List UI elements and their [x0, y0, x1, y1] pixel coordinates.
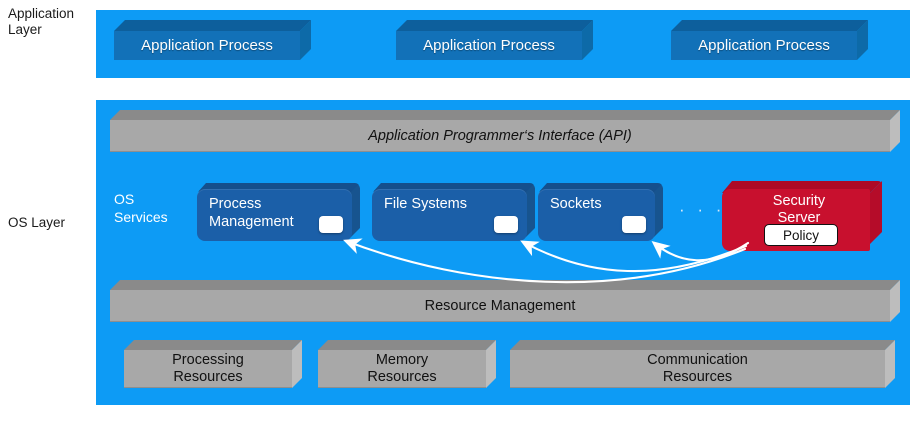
ellipsis-more-services: · · ·: [679, 200, 725, 220]
application-process-box: Application Process: [396, 20, 593, 60]
resource-box-communication: Communication Resources: [510, 340, 895, 388]
service-box-process-management[interactable]: Process Management: [197, 183, 360, 241]
application-process-label: Application Process: [114, 31, 300, 60]
interface-hook-icon: [319, 216, 343, 233]
bar-top-face: [318, 340, 496, 350]
box-side-face: [526, 183, 535, 237]
application-process-box: Application Process: [114, 20, 311, 60]
bar-top-face: [110, 110, 900, 120]
os-layer-label: OS Layer: [8, 215, 90, 231]
application-process-label: Application Process: [671, 31, 857, 60]
security-server-box[interactable]: Security Server Policy: [722, 181, 882, 251]
resource-management-bar: Resource Management: [110, 280, 900, 322]
api-bar: Application Programmer‘s Interface (API): [110, 110, 900, 152]
application-process-box: Application Process: [671, 20, 868, 60]
service-box-file-systems[interactable]: File Systems: [372, 183, 535, 241]
security-server-label: Security Server: [730, 193, 868, 227]
application-process-label: Application Process: [396, 31, 582, 60]
interface-hook-icon: [494, 216, 518, 233]
box-top-face: [114, 20, 311, 31]
policy-button[interactable]: Policy: [764, 224, 838, 246]
service-box-sockets[interactable]: Sockets: [538, 183, 663, 241]
bar-top-face: [124, 340, 302, 350]
box-side-face: [351, 183, 360, 237]
resource-box-label: Processing Resources: [124, 350, 292, 388]
diagram-canvas: Application Layer OS Layer Application P…: [0, 0, 917, 424]
service-box-label: File Systems: [384, 195, 525, 213]
box-top-face: [671, 20, 868, 31]
resource-box-label: Communication Resources: [510, 350, 885, 388]
resource-management-label: Resource Management: [110, 290, 890, 322]
api-bar-label: Application Programmer‘s Interface (API): [110, 120, 890, 152]
resource-box-processing: Processing Resources: [124, 340, 302, 388]
bar-top-face: [510, 340, 895, 350]
application-layer-label: Application Layer: [8, 6, 90, 38]
service-box-label: Sockets: [550, 195, 653, 213]
box-top-face: [396, 20, 593, 31]
resource-box-label: Memory Resources: [318, 350, 486, 388]
bar-top-face: [110, 280, 900, 290]
os-services-label: OS Services: [114, 190, 168, 226]
resource-box-memory: Memory Resources: [318, 340, 496, 388]
box-side-face: [654, 183, 663, 237]
application-layer-panel: Application Process Application Process …: [96, 10, 910, 78]
interface-hook-icon: [622, 216, 646, 233]
